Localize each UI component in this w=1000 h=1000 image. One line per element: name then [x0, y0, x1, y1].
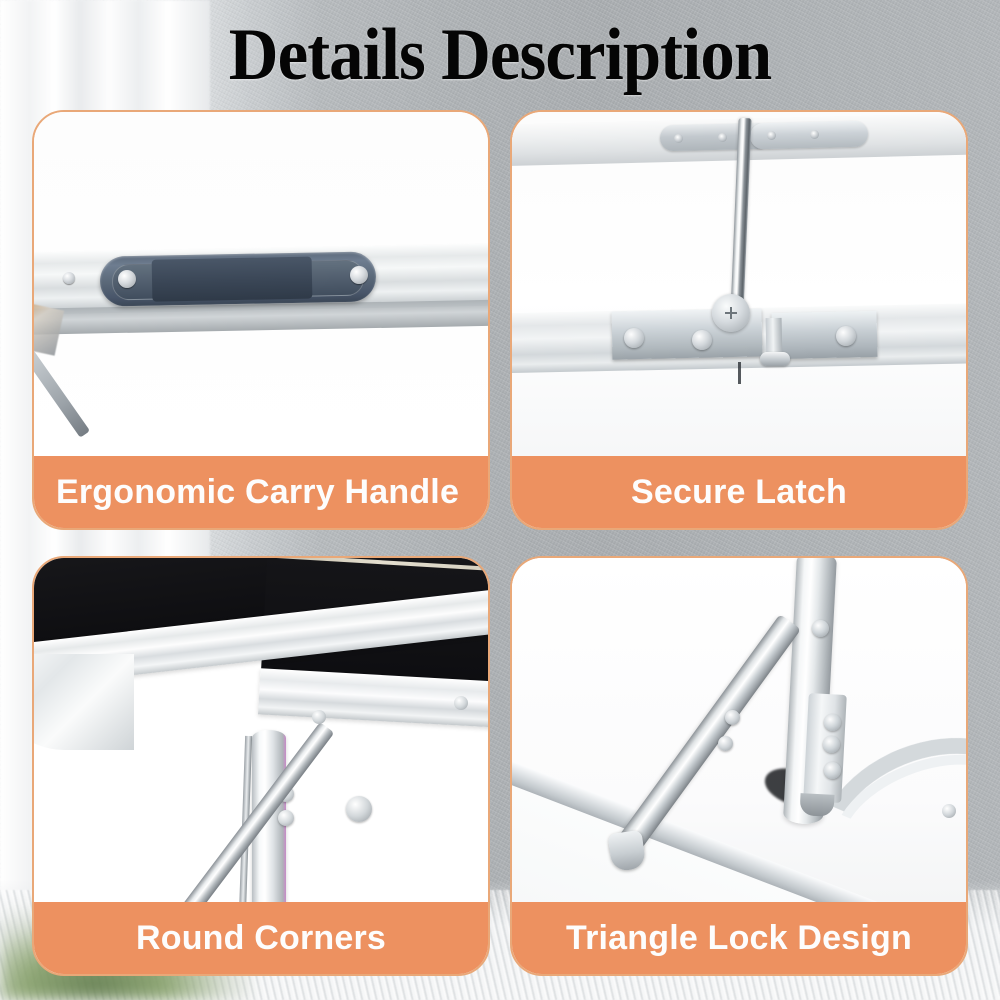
page-title: Details Description: [35, 14, 965, 96]
caption-bar: Round Corners: [34, 902, 488, 974]
latch-bracket-right: [772, 311, 878, 359]
feature-card-triangle-lock-design[interactable]: Triangle Lock Design: [510, 556, 968, 976]
caption-bar: Ergonomic Carry Handle: [34, 456, 488, 528]
caption-bar: Secure Latch: [512, 456, 966, 528]
leg-screw: [278, 810, 294, 826]
round-corners-photo: [34, 558, 488, 902]
carry-handle: [100, 251, 377, 306]
plate-hole: [810, 130, 819, 139]
handle-screw: [350, 266, 368, 284]
feature-card-ergonomic-carry-handle[interactable]: Ergonomic Carry Handle: [32, 110, 490, 530]
latch-rivet: [692, 330, 712, 350]
caption-label: Secure Latch: [631, 473, 847, 512]
latch-pivot-screw: [712, 294, 750, 332]
plate-hole: [767, 131, 776, 140]
secure-latch-photo: [512, 112, 966, 456]
caption-label: Round Corners: [136, 919, 386, 958]
feature-card-round-corners[interactable]: Round Corners: [32, 556, 490, 976]
caption-label: Triangle Lock Design: [566, 919, 912, 958]
edge-screw: [454, 696, 468, 710]
frame-seam: [738, 362, 741, 384]
rail-screw: [63, 272, 75, 284]
latch-rivet: [624, 328, 644, 348]
latch-pin: [760, 352, 790, 366]
latch-rivet: [836, 326, 856, 346]
bracket-screw: [824, 762, 841, 779]
carry-handle-photo: [34, 112, 488, 456]
rounded-corner: [34, 654, 134, 750]
plate-hole: [674, 134, 683, 143]
carry-handle-grip: [152, 257, 313, 302]
bracket-screw: [824, 714, 841, 731]
brace-joint-screw: [346, 796, 372, 822]
handle-screw: [118, 270, 136, 288]
feature-card-secure-latch[interactable]: Secure Latch: [510, 110, 968, 530]
triangle-lock-photo: [512, 558, 966, 902]
brace-screw: [718, 736, 733, 751]
caption-bar: Triangle Lock Design: [512, 902, 966, 974]
plate-hole: [718, 133, 727, 142]
leg-screw: [812, 620, 829, 637]
edge-screw: [312, 710, 326, 724]
caption-label: Ergonomic Carry Handle: [56, 473, 459, 512]
bracket-screw: [823, 736, 840, 753]
frame-screw: [942, 804, 956, 818]
brace-screw: [725, 710, 740, 725]
feature-grid: Ergonomic Carry Handle Secure Latch: [32, 110, 968, 976]
